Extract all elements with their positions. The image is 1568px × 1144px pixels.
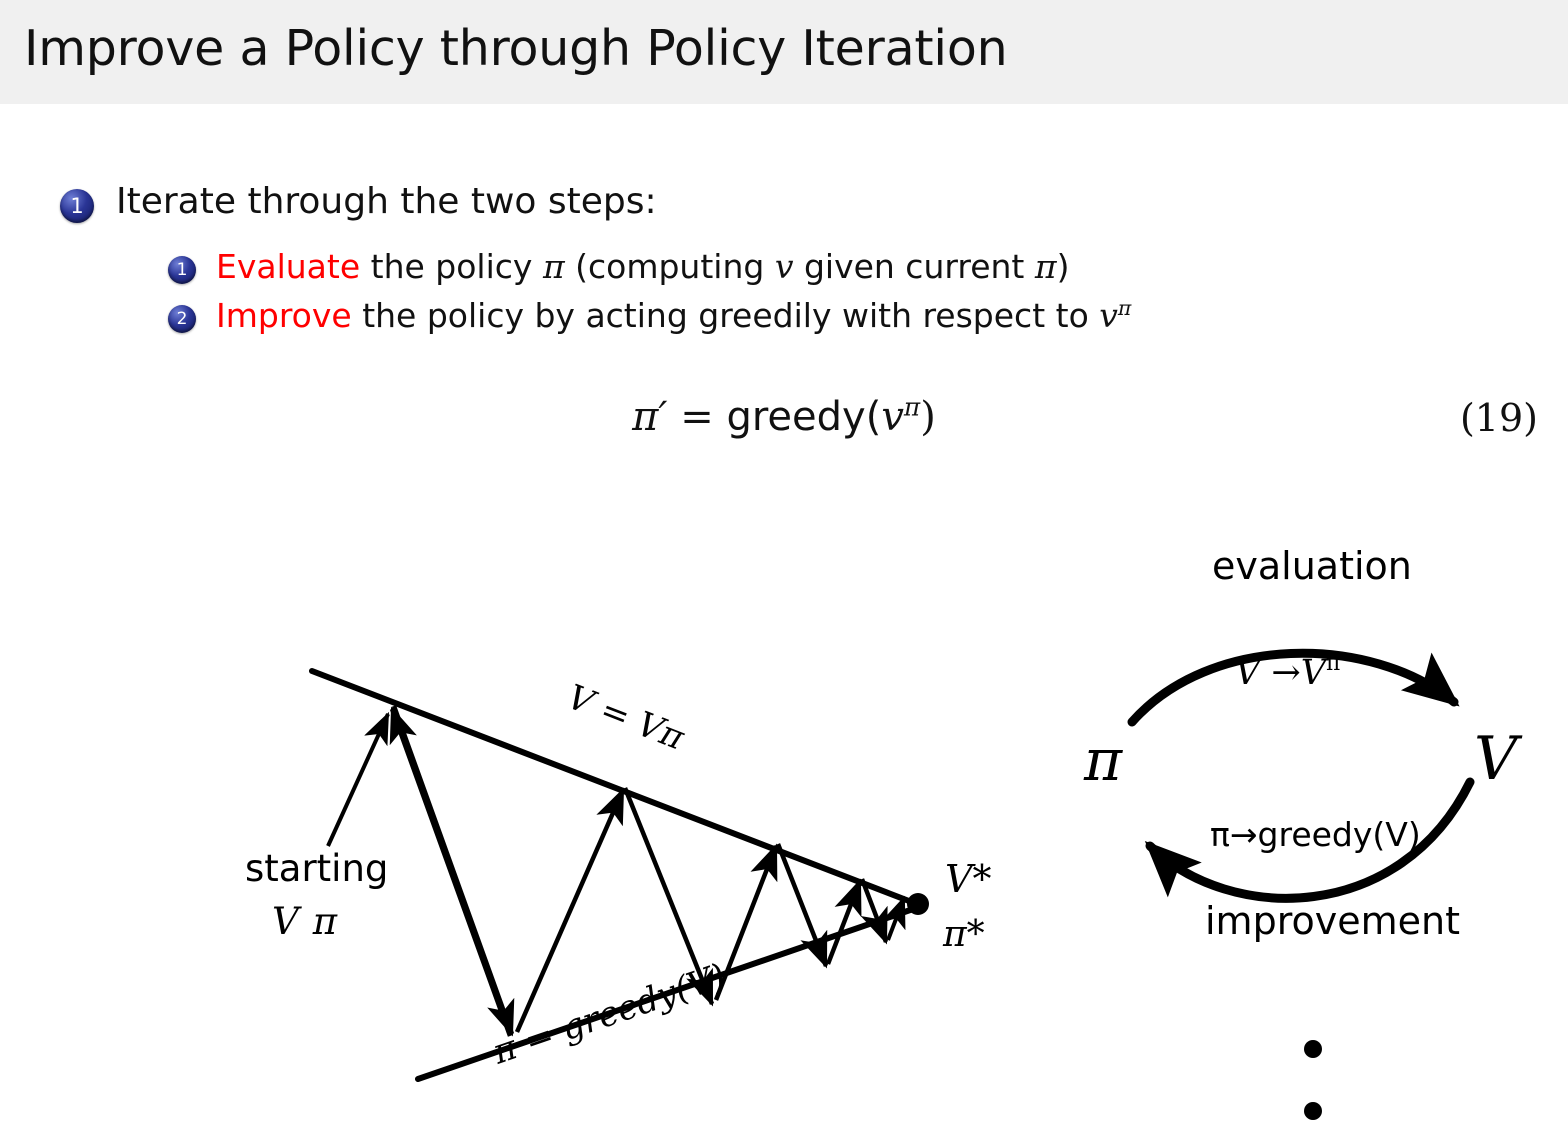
bullet-marker-1-icon: 1 (60, 189, 94, 223)
figure-gpi-cycle: evaluation improvement V →Vπ π→greedy(V)… (1050, 524, 1568, 1144)
label-optimal-v: V* (945, 857, 991, 901)
evaluate-pi-1: π (543, 247, 565, 286)
evaluate-text-a: the policy (360, 247, 543, 286)
evaluate-v-1: v (775, 247, 794, 286)
keyword-improve: Improve (216, 296, 352, 335)
bullet-level1-label: Iterate through the two steps: (116, 180, 657, 224)
bullet-level2-list: 1 Evaluate the policy π (computing v giv… (168, 250, 1131, 348)
evaluate-text-c: given current (793, 247, 1034, 286)
keyword-evaluate: Evaluate (216, 247, 360, 286)
bullet-marker-2a-icon: 1 (168, 256, 196, 284)
ellipsis-dot-2 (1304, 1102, 1322, 1120)
label-evaluation-caption: evaluation (1212, 544, 1412, 588)
convergence-point-dot (907, 893, 929, 915)
label-starting: starting (245, 847, 388, 890)
bullet-level2-improve-label: Improve the policy by acting greedily wi… (216, 296, 1131, 336)
bullet-level1: 1 Iterate through the two steps: (60, 184, 657, 224)
equation-number: (19) (1460, 396, 1538, 440)
zigzag-up-4 (828, 881, 860, 964)
zigzag-down-1 (394, 706, 512, 1034)
evaluate-text-d: ) (1057, 247, 1070, 286)
zigzag-up-1 (392, 709, 510, 1036)
equation-close-paren: ) (920, 394, 936, 440)
evaluate-pi-2: π (1035, 247, 1057, 286)
slide-content: 1 Iterate through the two steps: 1 Evalu… (0, 104, 1568, 1080)
bullet-level2-evaluate-label: Evaluate the policy π (computing v given… (216, 247, 1069, 287)
equation-greedy: greedy( (726, 394, 881, 440)
bullet-marker-2b-icon: 2 (168, 305, 196, 333)
slide-title-bar: Improve a Policy through Policy Iteratio… (0, 0, 1568, 104)
ellipsis-dot-1 (1304, 1040, 1322, 1058)
improve-text-a: the policy by acting greedily with respe… (352, 296, 1100, 335)
equation-equals: = (668, 394, 727, 440)
starting-leader-arrow (328, 714, 388, 846)
bullet-level2-evaluate: 1 Evaluate the policy π (computing v giv… (168, 250, 1131, 287)
equation-sup-pi: π (904, 393, 920, 422)
page-title: Improve a Policy through Policy Iteratio… (24, 20, 1007, 77)
evaluate-text-b: (computing (565, 247, 775, 286)
improve-v-1: v (1099, 296, 1118, 335)
label-starting-v-pi: Vπ (272, 900, 338, 943)
label-upper-line: V = Vπ (562, 677, 690, 758)
equation-v: v (881, 394, 904, 440)
zigzag-up-3 (716, 846, 776, 1000)
node-v: V (1474, 724, 1523, 794)
improve-sup-pi: π (1118, 296, 1131, 320)
equation-policy-greedy: π′ = greedy(vπ) (0, 394, 1568, 440)
label-improvement-caption: improvement (1205, 899, 1460, 943)
label-improve-mapping: π→greedy(V) (1210, 815, 1421, 854)
bullet-level2-improve: 2 Improve the policy by acting greedily … (168, 299, 1131, 336)
svg-text:V = Vπ: V = Vπ (562, 677, 690, 758)
node-pi: π (1083, 726, 1123, 794)
label-optimal-pi: π* (942, 914, 985, 955)
figure-convergence: V = Vπ π = greedy(V) starting Vπ V* π* (210, 534, 1050, 1094)
equation-pi-prime: π′ (632, 394, 667, 440)
label-eval-mapping: V →Vπ (1235, 651, 1340, 693)
